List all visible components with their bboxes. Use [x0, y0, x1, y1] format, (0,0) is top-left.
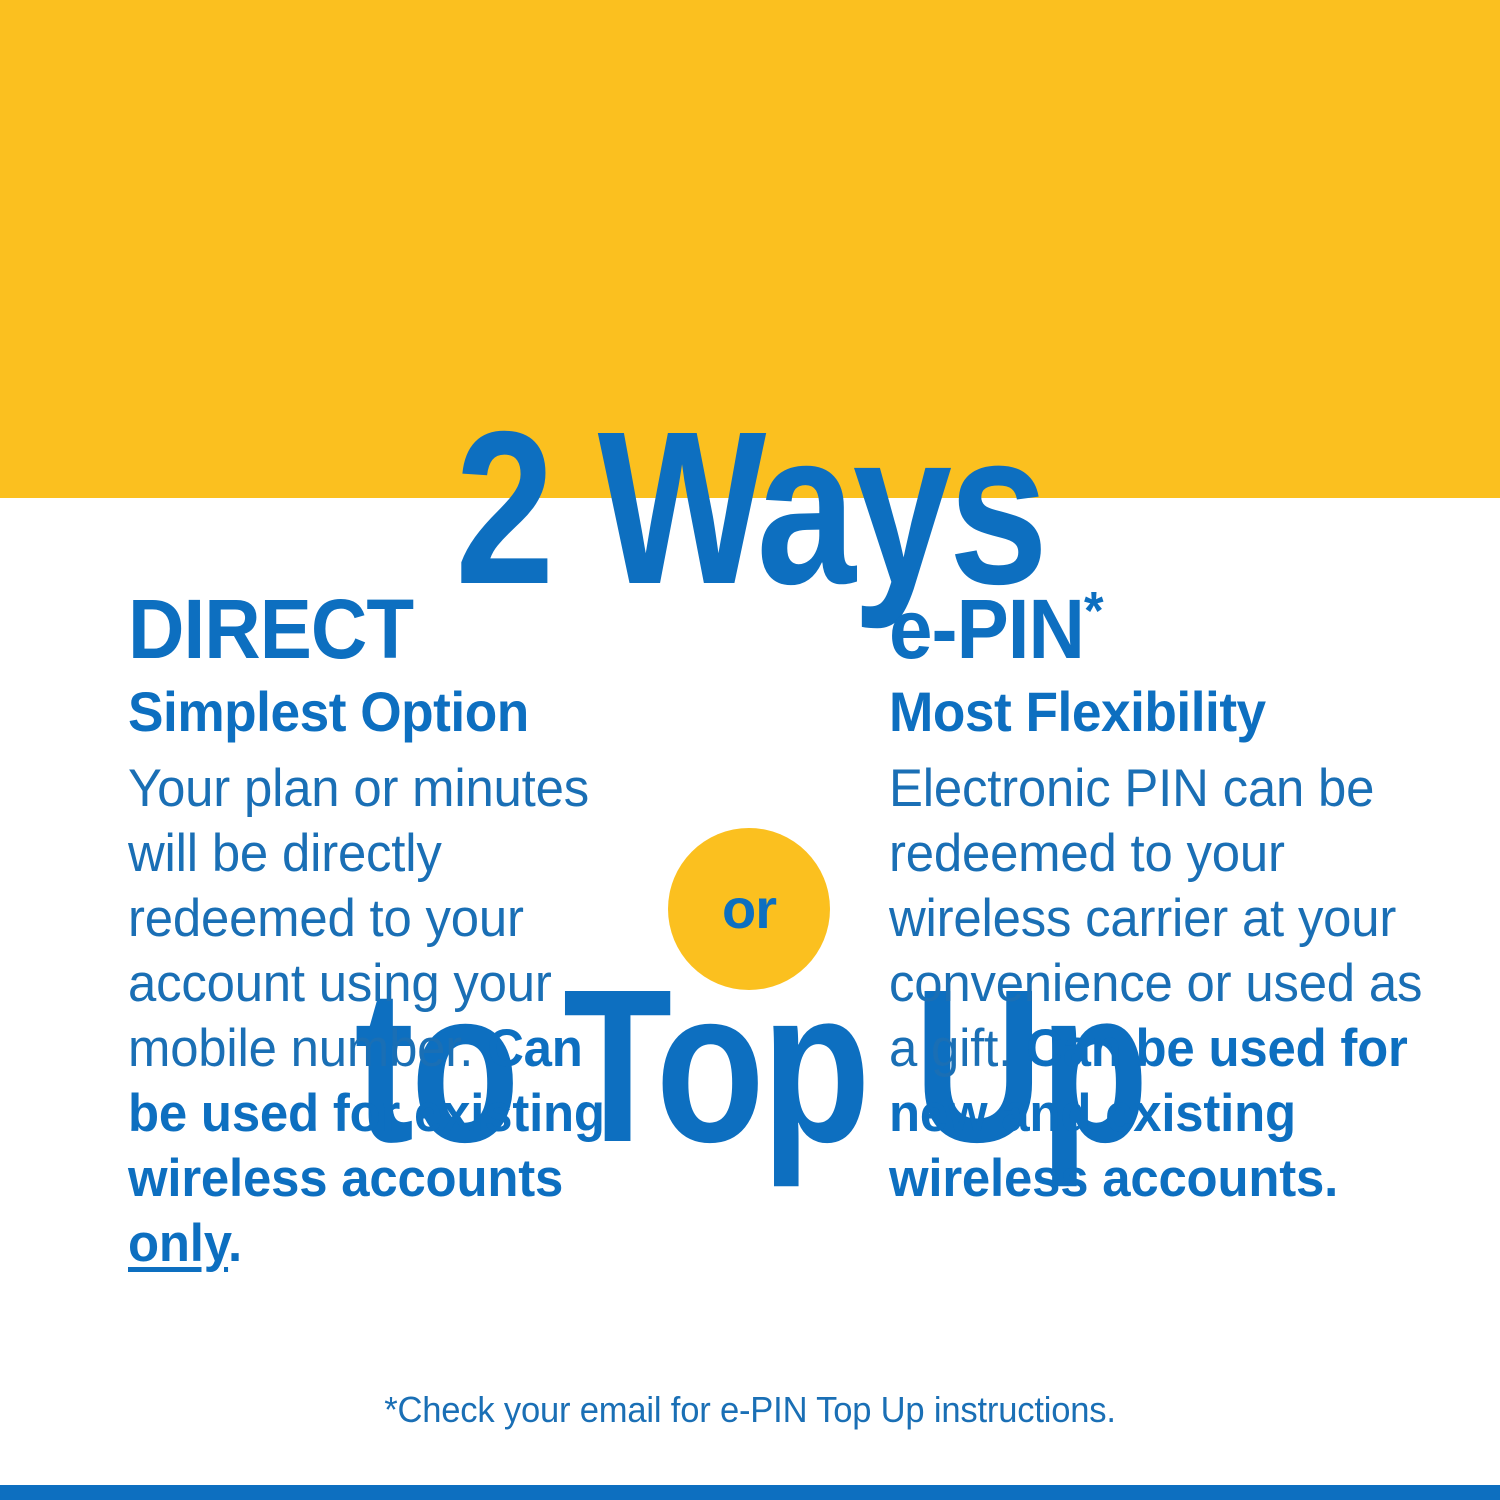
or-separator-label: or — [722, 881, 776, 937]
option-epin-title-text: e-PIN — [889, 582, 1084, 676]
option-direct-title-text: DIRECT — [128, 582, 413, 676]
option-direct-description: Your plan or minutes will be directly re… — [128, 756, 627, 1276]
option-direct-title: DIRECT — [128, 586, 621, 672]
header-banner: 2 Ways to Top Up — [0, 0, 1500, 498]
bottom-accent-bar — [0, 1485, 1500, 1500]
option-direct-subtitle: Simplest Option — [128, 680, 632, 744]
option-epin-description: Electronic PIN can be redeemed to your w… — [889, 756, 1427, 1211]
option-epin-subtitle: Most Flexibility — [889, 680, 1393, 744]
option-card-direct: DIRECT Simplest Option Your plan or minu… — [128, 586, 658, 1276]
page-title-line-1: 2 Ways — [135, 416, 1365, 602]
option-epin-title: e-PIN* — [889, 586, 1382, 672]
infographic-page: 2 Ways to Top Up DIRECT Simplest Option … — [0, 0, 1500, 1500]
option-direct-description-bold-tail: . — [228, 1214, 242, 1273]
footnote-text: *Check your email for e-PIN Top Up instr… — [30, 1388, 1470, 1432]
option-epin-title-asterisk: * — [1084, 581, 1103, 641]
option-card-epin: e-PIN* Most Flexibility Electronic PIN c… — [889, 586, 1419, 1211]
option-direct-description-underline: only — [128, 1214, 228, 1273]
or-separator-badge: or — [668, 828, 830, 990]
